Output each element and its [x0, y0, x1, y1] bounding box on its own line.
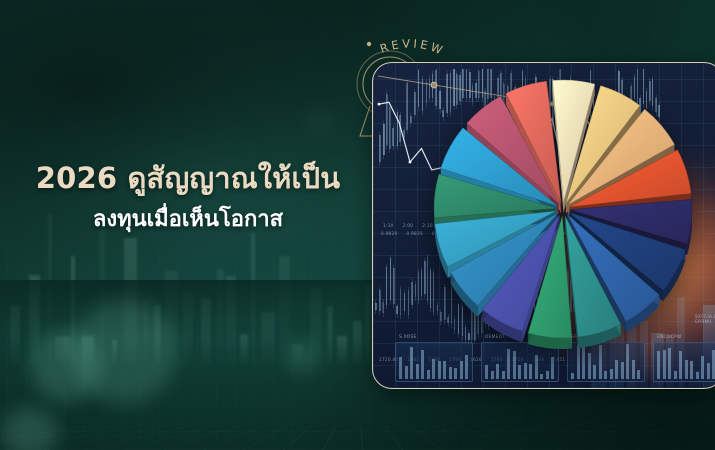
review-label: REVIEW [378, 36, 447, 58]
card-widget-label: S.XOSE [399, 334, 417, 339]
headline-line-2: ลงทุนเมื่อเห็นโอกาส [0, 206, 370, 235]
headline-line-1: 2026 ดูสัญญาณให้เป็น [0, 160, 370, 196]
headline-block: 2026 ดูสัญญาณให้เป็น ลงทุนเมื่อเห็นโอกาส [0, 160, 370, 235]
card-series-label: SXFCIA.LXDFOOIR ERRNU [695, 314, 715, 324]
poster-canvas: 2026 ดูสัญญาณให้เป็น ลงทุนเมื่อเห็นโอกาส… [0, 0, 715, 450]
pie-chart: Segment 1Segment 2Segment 3Segment 4Segm… [432, 78, 694, 340]
review-dot [367, 42, 371, 46]
